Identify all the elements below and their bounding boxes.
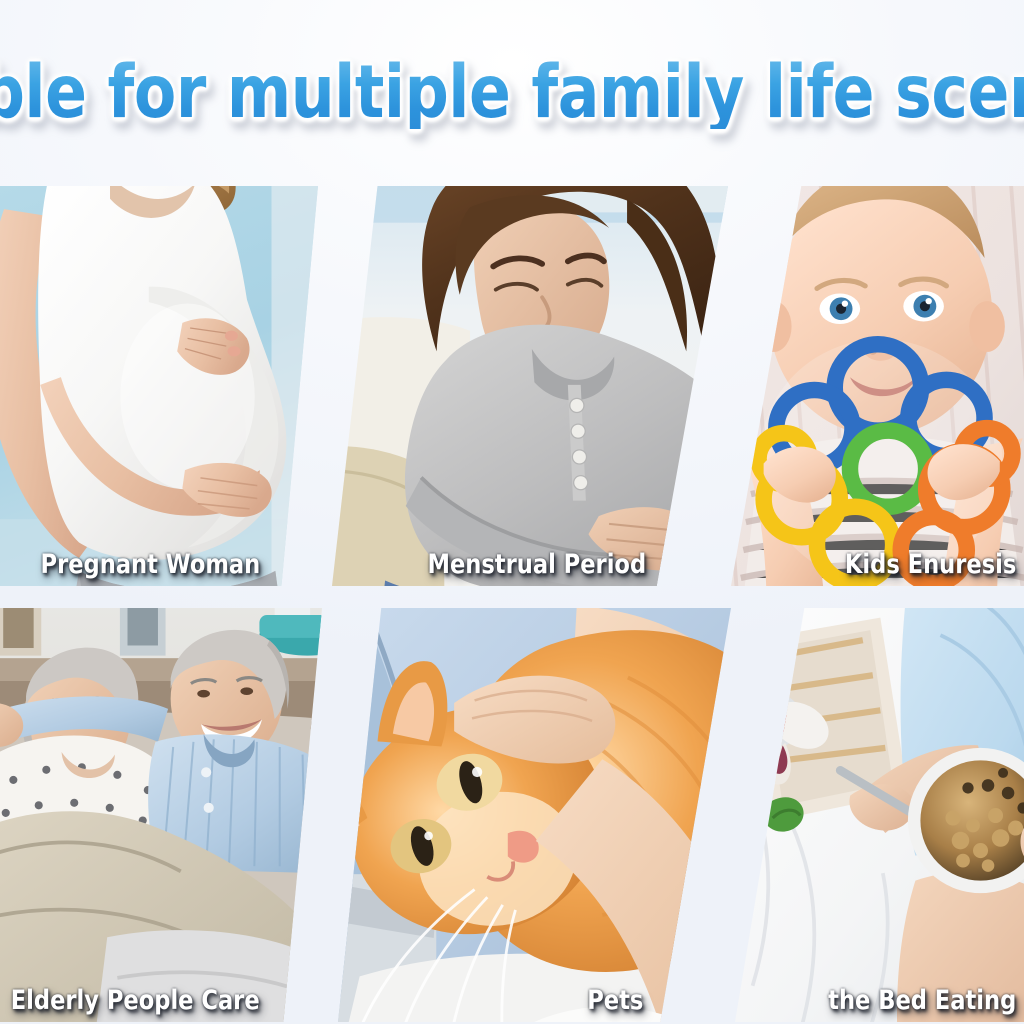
panel-the-bed-eating[interactable]: the Bed Eating Overhead view of a woman … <box>735 608 1024 1022</box>
panel-alt-text: Ginger long-haired cat being cradled and… <box>338 608 339 609</box>
panel-alt-text: Baby lying on a striped blanket chewing … <box>731 186 732 187</box>
panel-pregnant-woman[interactable]: Pregnant Woman Side view of a pregnant w… <box>0 186 318 586</box>
panel-label: Menstrual Period <box>427 549 646 580</box>
panel-label: Elderly People Care <box>11 985 260 1016</box>
scenario-grid: Pregnant Woman Side view of a pregnant w… <box>0 0 1024 1024</box>
pregnant-woman-photo <box>0 186 318 586</box>
kids-enuresis-photo <box>731 186 1024 586</box>
panel-menstrual-period[interactable]: Menstrual Period Woman in a grey henley … <box>332 186 728 586</box>
panel-alt-text: Overhead view of a woman in a light blue… <box>735 608 736 609</box>
menstrual-period-photo <box>332 186 728 586</box>
panel-label: Kids Enuresis <box>845 549 1016 580</box>
panel-label: the Bed Eating <box>828 985 1016 1016</box>
panel-label: Pregnant Woman <box>40 549 260 580</box>
promo-banner: Suitable for multiple family life scenar… <box>0 0 1024 1024</box>
the-bed-eating-photo <box>735 608 1024 1022</box>
panel-alt-text: Woman in a grey henley shirt and blue je… <box>332 186 333 187</box>
elderly-people-care-photo <box>0 608 322 1022</box>
pets-photo <box>338 608 731 1022</box>
panel-elderly-people-care[interactable]: Elderly People Care Smiling elderly coup… <box>0 608 322 1022</box>
panel-pets[interactable]: Pets Ginger long-haired cat being cradle… <box>338 608 731 1022</box>
panel-kids-enuresis[interactable]: Kids Enuresis Baby lying on a striped bl… <box>731 186 1024 586</box>
panel-label: Pets <box>587 985 643 1016</box>
